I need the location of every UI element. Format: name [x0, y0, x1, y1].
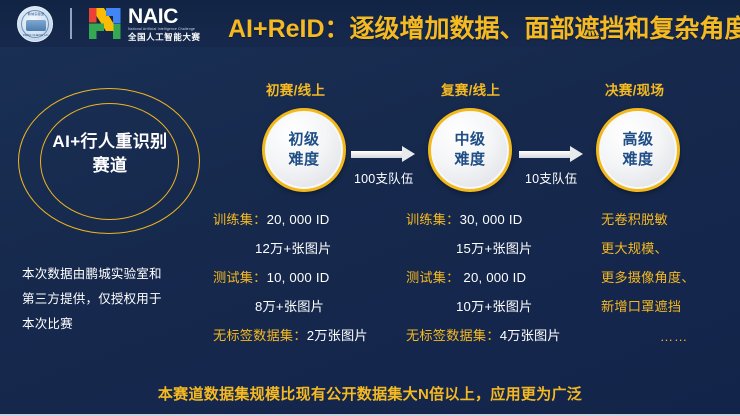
- seal-bottom-text: PENG CHENG LABORATORY: [23, 33, 49, 37]
- dataset-row-label: 训练集：: [213, 212, 267, 227]
- track-title-line2: 赛道: [30, 154, 190, 178]
- feature-ellipsis: ……: [601, 321, 729, 344]
- dataset-row-label: 训练集：: [406, 212, 460, 227]
- feature-item: 新增口罩遮挡: [601, 292, 729, 321]
- dataset-row: 测试集： 20, 000 ID: [406, 263, 592, 292]
- difficulty-label-advanced: 高级 难度: [622, 130, 653, 170]
- dataset-row: 15万+张图片: [406, 234, 592, 263]
- dataset-column-semifinal: 训练集：30, 000 ID 15万+张图片 测试集： 20, 000 ID 1…: [406, 205, 592, 350]
- naic-subtitle-cn: 全国人工智能大赛: [128, 32, 220, 43]
- naic-subtitle-en: National Artificial Intelligence Challen…: [128, 27, 222, 32]
- dataset-row: 训练集：20, 000 ID: [213, 205, 391, 234]
- dataset-row-value: 20, 000 ID: [267, 212, 330, 227]
- difficulty-circle-intermediate: 中级 难度: [428, 108, 512, 192]
- dataset-row-value: 20, 000 ID: [463, 270, 526, 285]
- track-title: AI+行人重识别 赛道: [30, 130, 190, 178]
- dataset-row-value: 10万+张图片: [456, 299, 533, 314]
- difficulty-intermediate-line1: 中级: [454, 130, 485, 150]
- slide-header: 鹏城实验室 PENG CHENG LABORATORY NAIC Nationa…: [0, 0, 740, 47]
- difficulty-label-beginner: 初级 难度: [288, 130, 319, 170]
- dataset-row-label: 测试集：: [406, 270, 463, 285]
- difficulty-circle-advanced: 高级 难度: [596, 108, 680, 192]
- slide-canvas: 鹏城实验室 PENG CHENG LABORATORY NAIC Nationa…: [0, 0, 740, 416]
- stage-header-semifinal: 复赛/线上: [441, 79, 500, 99]
- dataset-row-label: 无标签数据集：: [213, 328, 307, 343]
- data-source-note-line1: 本次数据由鹏城实验室和: [22, 262, 212, 287]
- dataset-row-label: 测试集：: [213, 270, 267, 285]
- naic-wordmark: NAIC National Artificial Intelligence Ch…: [128, 7, 220, 43]
- naic-acronym: NAIC: [128, 7, 220, 27]
- right-arrow-head-icon: [570, 146, 583, 162]
- dataset-row-value: 2万张图片: [307, 328, 368, 343]
- difficulty-label-intermediate: 中级 难度: [454, 130, 485, 170]
- data-source-note: 本次数据由鹏城实验室和 第三方提供，仅授权用于 本次比赛: [22, 262, 212, 337]
- difficulty-beginner-line2: 难度: [288, 150, 319, 170]
- dataset-row-value: 30, 000 ID: [460, 212, 523, 227]
- track-title-line1: AI+行人重识别: [30, 130, 190, 154]
- data-source-note-line3: 本次比赛: [22, 312, 212, 337]
- dataset-row-value: 15万+张图片: [456, 241, 533, 256]
- right-arrow-icon: [351, 151, 404, 158]
- difficulty-beginner-line1: 初级: [288, 130, 319, 150]
- dataset-row: 无标签数据集：4万张图片: [406, 321, 592, 350]
- data-source-note-line2: 第三方提供，仅授权用于: [22, 287, 212, 312]
- dataset-column-preliminary: 训练集：20, 000 ID 12万+张图片 测试集：10, 000 ID 8万…: [213, 205, 391, 350]
- dataset-row: 无标签数据集：2万张图片: [213, 321, 391, 350]
- stage-header-final: 决赛/现场: [605, 79, 664, 99]
- dataset-row: 测试集：10, 000 ID: [213, 263, 391, 292]
- arrow-caption-1: 100支队伍: [354, 168, 414, 187]
- feature-item: 无卷积脱敏: [601, 205, 729, 234]
- peng-cheng-lab-seal-logo: 鹏城实验室 PENG CHENG LABORATORY: [17, 6, 53, 42]
- feature-item: 更多摄像角度、: [601, 263, 729, 292]
- feature-item: 更大规模、: [601, 234, 729, 263]
- dataset-row: 训练集：30, 000 ID: [406, 205, 592, 234]
- dataset-row-value: 8万+张图片: [255, 299, 324, 314]
- dataset-row-value: 10, 000 ID: [267, 270, 330, 285]
- dataset-row-value: 12万+张图片: [255, 241, 332, 256]
- difficulty-advanced-line2: 难度: [622, 150, 653, 170]
- dataset-row: 12万+张图片: [213, 234, 391, 263]
- dataset-row-label: 无标签数据集：: [406, 328, 500, 343]
- difficulty-circle-beginner: 初级 难度: [262, 108, 346, 192]
- dataset-row: 10万+张图片: [406, 292, 592, 321]
- stage-header-preliminary: 初赛/线上: [266, 79, 325, 99]
- footer-banner: 本赛道数据集规模比现有公开数据集大N倍以上，应用更为广泛: [0, 383, 740, 404]
- naic-logo-icon: [88, 7, 122, 40]
- dataset-row-value: 4万张图片: [500, 328, 561, 343]
- seal-emblem-core: [26, 20, 46, 31]
- dataset-row: 8万+张图片: [213, 292, 391, 321]
- difficulty-advanced-line1: 高级: [622, 130, 653, 150]
- page-title: AI+ReID：逐级增加数据、面部遮挡和复杂角度: [228, 9, 740, 45]
- difficulty-intermediate-line2: 难度: [454, 150, 485, 170]
- vertical-divider-icon: [70, 8, 72, 39]
- dataset-column-final: 无卷积脱敏 更大规模、 更多摄像角度、 新增口罩遮挡 ……: [601, 205, 729, 344]
- right-arrow-icon: [519, 151, 572, 158]
- right-arrow-head-icon: [402, 146, 415, 162]
- arrow-caption-2: 10支队伍: [525, 168, 577, 187]
